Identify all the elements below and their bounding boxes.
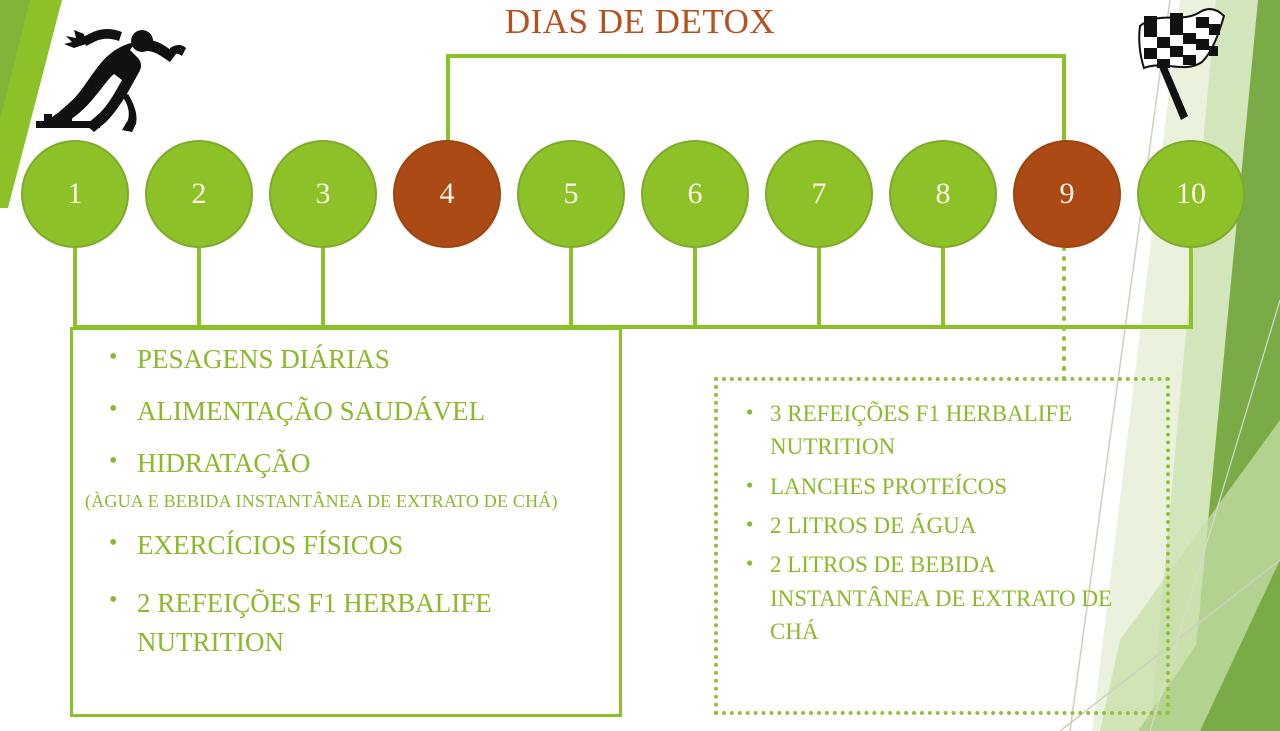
list-item: 2 REFEIÇÕES F1 HERBALIFE NUTRITION [109,584,609,662]
daily-routine-list: PESAGENS DIÁRIAS ALIMENTAÇÃO SAUDÁVEL HI… [73,330,619,662]
day-circle-9[interactable]: 9 [1013,140,1121,248]
list-item: 2 LITROS DE BEBIDA INSTANTÂNEA DE EXTRAT… [744,548,1158,648]
slide-canvas: DIAS DE DETOX [0,0,1280,731]
list-item: LANCHES PROTEÍCOS [744,470,1158,503]
day-circle-2[interactable]: 2 [145,140,253,248]
detox-day-list: 3 REFEIÇÕES F1 HERBALIFE NUTRITION LANCH… [718,381,1166,648]
list-item: 2 LITROS DE ÁGUA [744,509,1158,542]
day-circle-10[interactable]: 10 [1137,140,1245,248]
daily-routine-box: PESAGENS DIÁRIAS ALIMENTAÇÃO SAUDÁVEL HI… [70,327,622,717]
day-circle-5[interactable]: 5 [517,140,625,248]
day-circle-8[interactable]: 8 [889,140,997,248]
day-circle-7[interactable]: 7 [765,140,873,248]
day-circle-4[interactable]: 4 [393,140,501,248]
list-item-note: (ÀGUA E BEBIDA INSTANTÂNEA DE EXTRATO DE… [85,492,609,510]
list-item: ALIMENTAÇÃO SAUDÁVEL [109,398,609,425]
list-item: PESAGENS DIÁRIAS [109,346,609,373]
connector-top-bracket [448,56,1064,152]
day-circle-3[interactable]: 3 [269,140,377,248]
list-item: EXERCÍCIOS FÍSICOS [109,532,609,559]
detox-day-box: 3 REFEIÇÕES F1 HERBALIFE NUTRITION LANCH… [714,377,1170,715]
list-item: 3 REFEIÇÕES F1 HERBALIFE NUTRITION [744,397,1158,464]
day-circle-6[interactable]: 6 [641,140,749,248]
list-item: HIDRATAÇÃO [109,450,609,477]
day-circle-1[interactable]: 1 [21,140,129,248]
